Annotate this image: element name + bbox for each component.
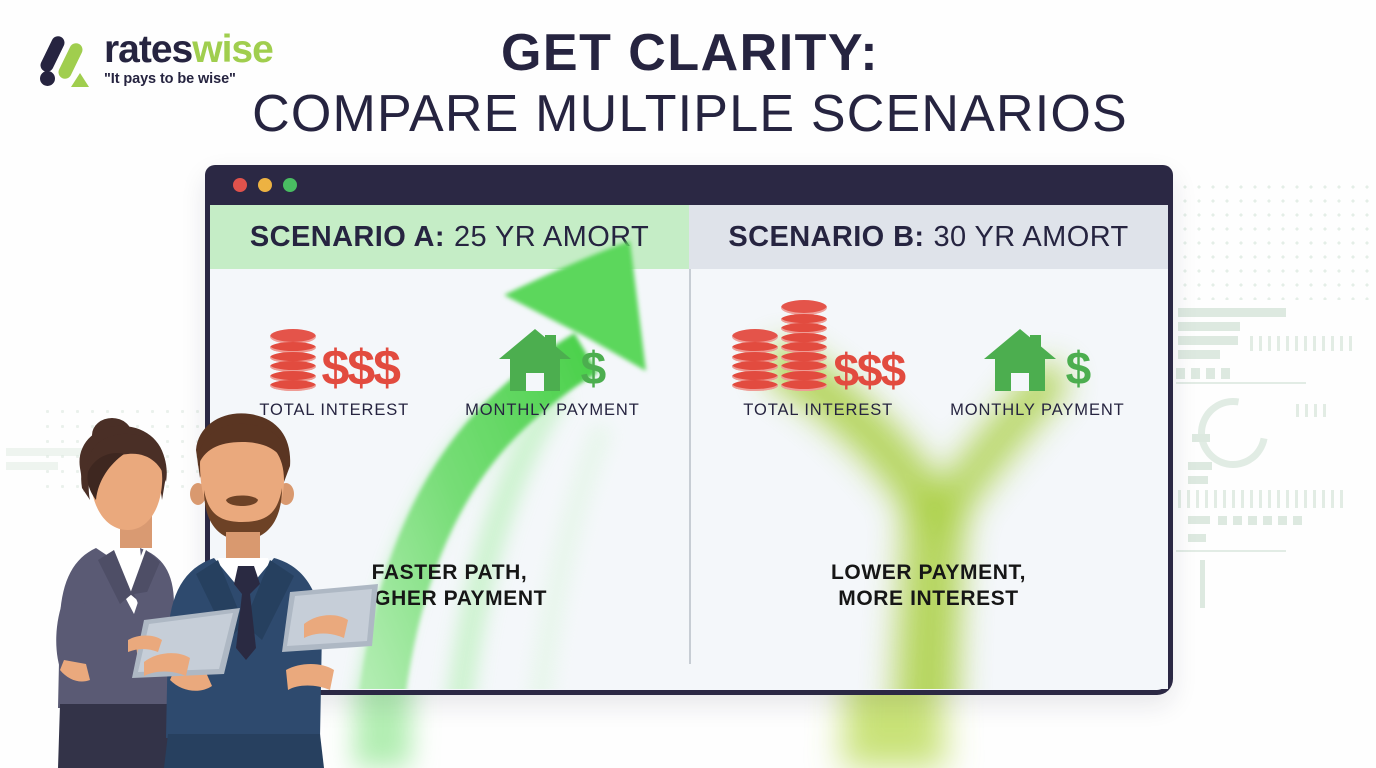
- metric-label-monthly-payment: MONTHLY PAYMENT: [950, 401, 1125, 420]
- tick-marks-decor: [1296, 404, 1332, 417]
- dollar-signs-icon: $$$: [833, 350, 904, 391]
- bar-decor: [1200, 560, 1205, 608]
- dollar-sign-icon: $: [1066, 347, 1092, 391]
- rule-decor: [1176, 382, 1306, 384]
- bar-decor: [1188, 476, 1208, 484]
- tick-marks-decor: [1178, 490, 1348, 508]
- scenario-b-header: SCENARIO B: 30 YR AMORT: [689, 205, 1168, 269]
- dollar-signs-icon: $$$: [322, 346, 399, 391]
- scenario-b-metrics: $$$ TOTAL INTEREST $: [689, 269, 1168, 420]
- scenario-b-subtitle: 30 YR AMORT: [934, 221, 1129, 254]
- house-icon: [499, 327, 571, 391]
- bar-decor: [1188, 516, 1210, 524]
- bar-decor: [1192, 434, 1210, 442]
- bar-decor: [1178, 322, 1240, 331]
- rule-decor: [1176, 550, 1286, 552]
- maximize-window-button[interactable]: [283, 178, 297, 192]
- bar-decor: [1178, 350, 1220, 359]
- scenario-a-title: SCENARIO A:: [250, 221, 445, 254]
- headline-line-1: GET CLARITY:: [240, 26, 1140, 81]
- metric-total-interest-b: $$$ TOTAL INTEREST: [732, 299, 904, 420]
- dot-grid-decor-right: [1178, 180, 1376, 300]
- minimize-window-button[interactable]: [258, 178, 272, 192]
- dollar-sign-icon: $: [581, 347, 607, 391]
- brand-name-part1: rates: [104, 28, 192, 71]
- coin-stack-icon: [270, 330, 316, 391]
- slash-bars-logo-icon: [34, 33, 94, 89]
- scenario-a-metrics: $$$ TOTAL INTEREST $: [210, 269, 689, 420]
- infographic-canvas: rateswise "It pays to be wise" GET CLARI…: [0, 0, 1376, 768]
- metric-monthly-payment-a: $ MONTHLY PAYMENT: [465, 299, 640, 420]
- caption-line-2: MORE INTEREST: [689, 586, 1168, 612]
- bar-decor: [1178, 308, 1286, 317]
- ring-decor: [1184, 384, 1281, 481]
- two-business-people-with-tablets: [28, 408, 378, 768]
- scenario-a-subtitle: 25 YR AMORT: [454, 221, 649, 254]
- window-titlebar: [205, 165, 1173, 205]
- metric-label-monthly-payment: MONTHLY PAYMENT: [465, 401, 640, 420]
- house-icon: [984, 327, 1056, 391]
- brand-logo[interactable]: rateswise "It pays to be wise": [34, 30, 273, 89]
- woman-in-grey-suit-with-tablet: [56, 418, 180, 768]
- headline-line-2: COMPARE MULTIPLE SCENARIOS: [240, 85, 1140, 143]
- bar-decor: [1178, 336, 1238, 345]
- page-title: GET CLARITY: COMPARE MULTIPLE SCENARIOS: [240, 26, 1140, 143]
- bar-decor: [1188, 462, 1212, 470]
- scenario-b-caption: LOWER PAYMENT, MORE INTEREST: [689, 560, 1168, 611]
- bar-decor: [1188, 534, 1206, 542]
- caption-line-1: LOWER PAYMENT,: [689, 560, 1168, 586]
- tick-marks-decor: [1250, 336, 1358, 351]
- metric-total-interest-a: $$$ TOTAL INTEREST: [259, 299, 409, 420]
- scenario-panel-b: SCENARIO B: 30 YR AMORT: [689, 205, 1168, 689]
- metric-label-total-interest: TOTAL INTEREST: [732, 401, 904, 420]
- square-row-decor: [1176, 368, 1236, 379]
- scenario-a-header: SCENARIO A: 25 YR AMORT: [210, 205, 689, 269]
- scenario-b-title: SCENARIO B:: [728, 221, 924, 254]
- metric-monthly-payment-b: $ MONTHLY PAYMENT: [950, 299, 1125, 420]
- close-window-button[interactable]: [233, 178, 247, 192]
- coin-stack-icon: [732, 302, 827, 392]
- square-row-decor: [1218, 516, 1302, 525]
